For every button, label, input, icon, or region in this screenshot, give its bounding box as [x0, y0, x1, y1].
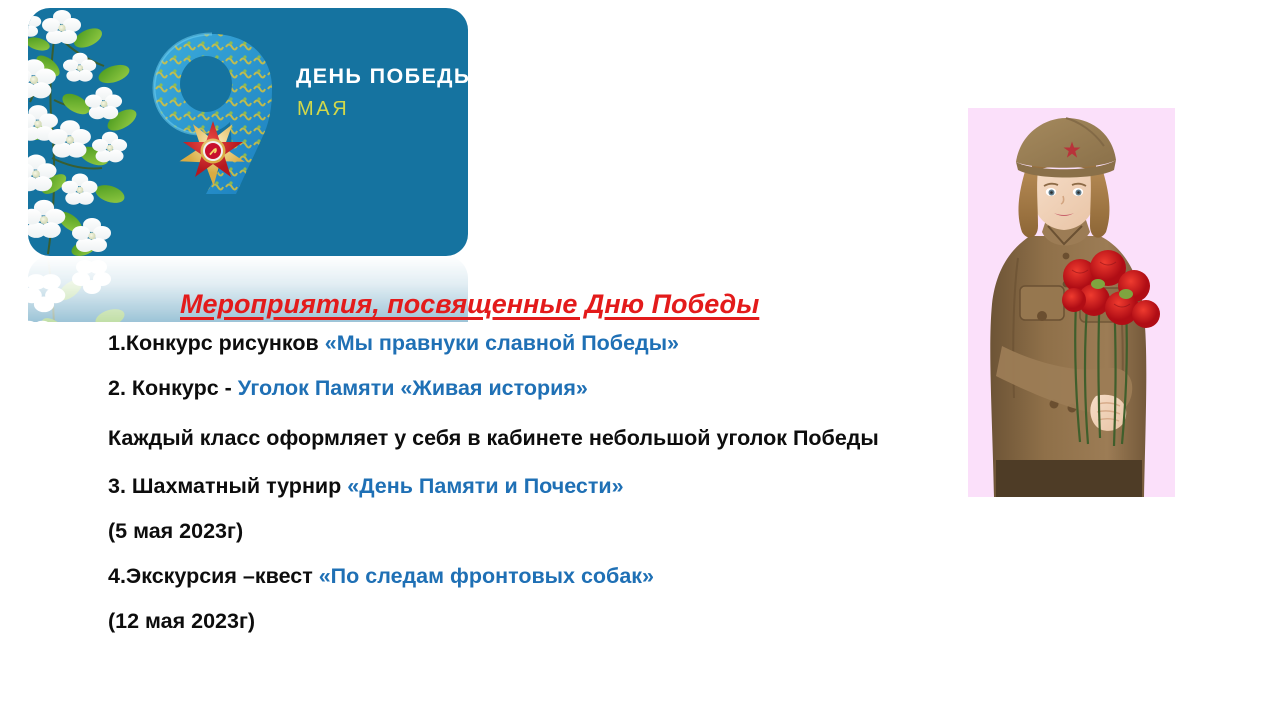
reflection-blossom-svg: [28, 256, 146, 322]
list-item: Каждый класс оформляет у себя в кабинете…: [108, 423, 938, 454]
event-4-prefix: 4.Экскурсия –квест: [108, 564, 319, 588]
list-item: 4.Экскурсия –квест «По следам фронтовых …: [108, 566, 1008, 588]
reflection-blossoms: [28, 256, 146, 322]
list-item: 3. Шахматный турнир «День Памяти и Почес…: [108, 476, 1008, 498]
list-item: (5 мая 2023г): [108, 521, 1008, 543]
banner-title: ДЕНЬ ПОБЕДЫ: [296, 66, 468, 88]
order-of-patriotic-war-medal-icon: [178, 116, 248, 186]
event-1-accent: «Мы правнуки славной Победы»: [325, 331, 679, 355]
event-3-prefix: 3. Шахматный турнир: [108, 474, 347, 498]
apple-blossom-branch-icon: [28, 8, 146, 256]
event-3-accent: «День Памяти и Почести»: [347, 474, 623, 498]
banner-subtitle: МАЯ: [297, 99, 349, 119]
victory-day-banner: ДЕНЬ ПОБЕДЫ МАЯ: [28, 8, 468, 256]
list-item: 1.Конкурс рисунков «Мы правнуки славной …: [108, 333, 1008, 355]
events-list: 1.Конкурс рисунков «Мы правнуки славной …: [108, 333, 1008, 656]
event-3-date: (5 мая 2023г): [108, 519, 243, 543]
list-item: (12 мая 2023г): [108, 611, 1008, 633]
medal-svg: [178, 116, 248, 186]
list-item: 2. Конкурс - Уголок Памяти «Живая истори…: [108, 378, 1008, 400]
event-4-accent: «По следам фронтовых собак»: [319, 564, 654, 588]
event-1-prefix: 1.Конкурс рисунков: [108, 331, 325, 355]
slide-canvas: ДЕНЬ ПОБЕДЫ МАЯ: [0, 0, 1280, 720]
blossom-svg: [28, 8, 146, 256]
event-2-accent: Уголок Памяти «Живая история»: [238, 376, 588, 400]
event-4-date: (12 мая 2023г): [108, 609, 255, 633]
event-2-prefix: 2. Конкурс -: [108, 376, 238, 400]
event-2-note: Каждый класс оформляет у себя в кабинете…: [108, 426, 879, 450]
banner-card: ДЕНЬ ПОБЕДЫ МАЯ: [28, 8, 468, 256]
page-title: Мероприятия, посвященные Дню Победы: [180, 289, 759, 320]
